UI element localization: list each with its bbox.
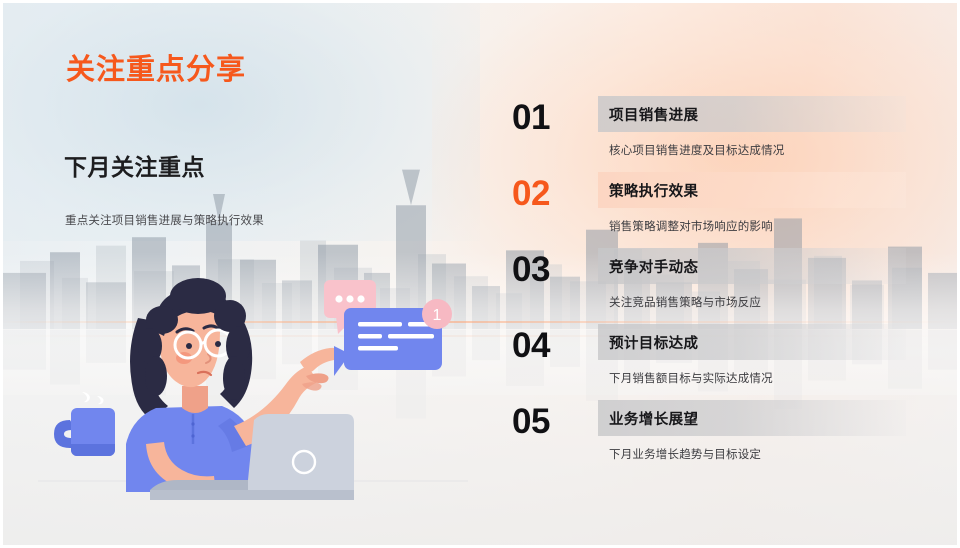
list-item[interactable]: 01 项目销售进展 核心项目销售进度及目标达成情况 xyxy=(512,96,932,172)
list-item-number: 01 xyxy=(512,100,590,135)
list-item[interactable]: 05 业务增长展望 下月业务增长趋势与目标设定 xyxy=(512,400,932,476)
slide-canvas: 关注重点分享 下月关注重点 重点关注项目销售进展与策略执行效果 xyxy=(0,0,960,548)
focus-points-list: 01 项目销售进展 核心项目销售进度及目标达成情况 02 策略执行效果 销售策略… xyxy=(512,96,932,476)
list-item-number: 02 xyxy=(512,176,590,211)
list-item-description: 销售策略调整对市场响应的影响 xyxy=(609,218,773,234)
list-item-title: 业务增长展望 xyxy=(609,408,698,429)
list-item[interactable]: 03 竞争对手动态 关注竞品销售策略与市场反应 xyxy=(512,248,932,324)
list-item[interactable]: 04 预计目标达成 下月销售额目标与实际达成情况 xyxy=(512,324,932,400)
list-item-description: 关注竞品销售策略与市场反应 xyxy=(609,294,761,310)
list-item-description: 核心项目销售进度及目标达成情况 xyxy=(609,142,785,158)
list-item-number: 05 xyxy=(512,404,590,439)
list-item-description: 下月销售额目标与实际达成情况 xyxy=(609,370,773,386)
list-item-title: 项目销售进展 xyxy=(609,104,698,125)
list-item-number: 03 xyxy=(512,252,590,287)
list-item-title: 竞争对手动态 xyxy=(609,256,698,277)
list-item-number: 04 xyxy=(512,328,590,363)
list-item-description: 下月业务增长趋势与目标设定 xyxy=(609,446,761,462)
list-item-title: 策略执行效果 xyxy=(609,180,698,201)
page-title: 关注重点分享 xyxy=(66,46,246,88)
list-item-title: 预计目标达成 xyxy=(609,332,698,353)
section-description: 重点关注项目销售进展与策略执行效果 xyxy=(65,212,264,228)
section-heading: 下月关注重点 xyxy=(64,148,205,182)
list-item[interactable]: 02 策略执行效果 销售策略调整对市场响应的影响 xyxy=(512,172,932,248)
